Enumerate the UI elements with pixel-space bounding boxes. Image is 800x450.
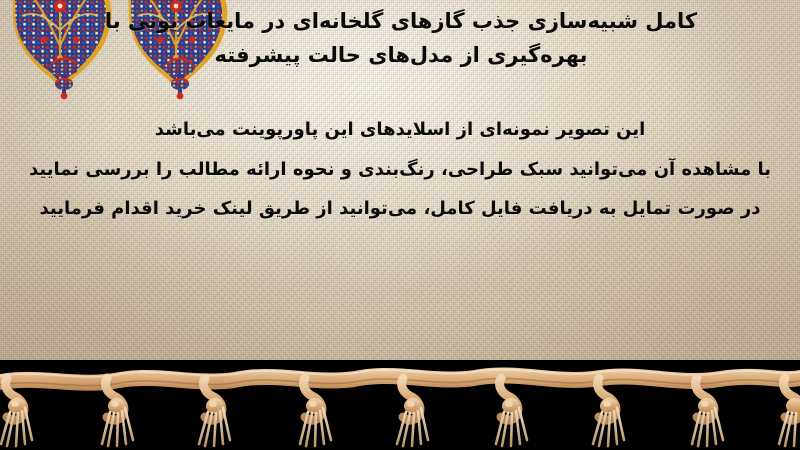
slide-title-line-2: بهره‌گیری از مدل‌های حالت پیشرفته [20,38,782,72]
slide-body-line-2: با مشاهده آن می‌توانید سبک طراحی، رنگ‌بن… [20,150,780,190]
slide-body-line-1: این تصویر نمونه‌ای از اسلایدهای این پاور… [20,110,780,150]
slide-canvas: کامل شبیه‌سازی جذب گازهای گلخانه‌ای در م… [0,0,800,450]
slide-title-line-1: کامل شبیه‌سازی جذب گازهای گلخانه‌ای در م… [20,4,782,38]
slide-title: کامل شبیه‌سازی جذب گازهای گلخانه‌ای در م… [20,4,782,72]
slide-body: این تصویر نمونه‌ای از اسلایدهای این پاور… [20,110,780,229]
slide-body-line-3: در صورت تمایل به دریافت فایل کامل، می‌تو… [20,189,780,229]
slide-text-layer: کامل شبیه‌سازی جذب گازهای گلخانه‌ای در م… [0,0,800,392]
